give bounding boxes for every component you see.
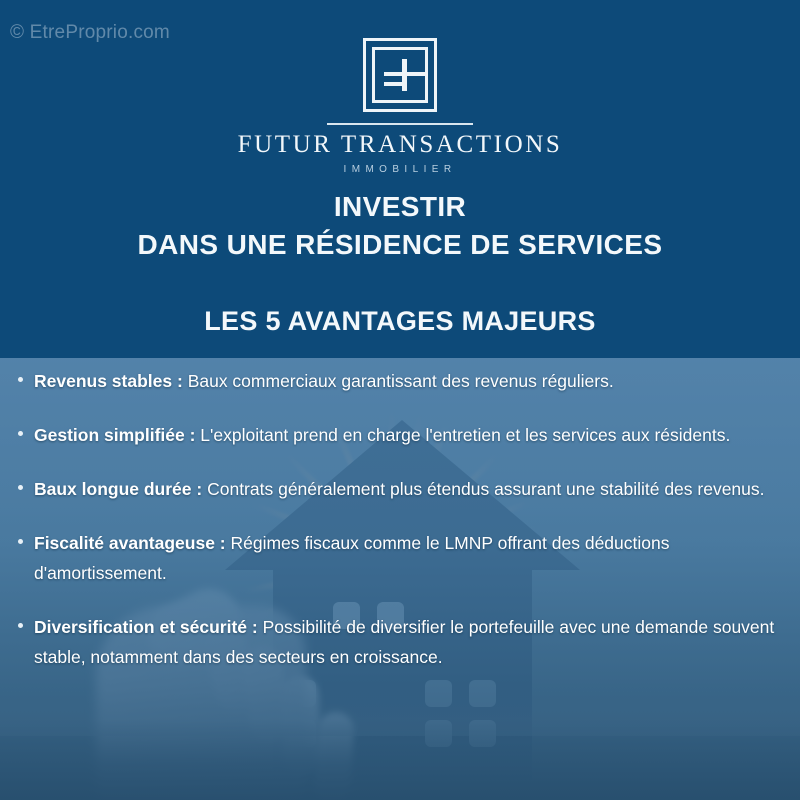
brand-tagline: IMMOBILIER — [344, 164, 457, 175]
list-item-separator: : — [185, 425, 201, 445]
list-item: Gestion simplifiée : L'exploitant prend … — [18, 420, 776, 450]
list-item-term: Baux longue durée — [34, 479, 192, 499]
list-item-term: Revenus stables — [34, 371, 172, 391]
ft-monogram-icon — [363, 38, 437, 112]
list-item-description: Contrats généralement plus étendus assur… — [207, 479, 764, 499]
poster: © EtreProprio.com FUTUR TRANSACTIONS IMM… — [0, 0, 800, 800]
monogram-stroke — [384, 72, 408, 76]
list-item: Revenus stables : Baux commerciaux garan… — [18, 366, 776, 396]
list-item-separator: : — [192, 479, 208, 499]
list-item-text: Baux longue durée : Contrats généralemen… — [34, 474, 776, 504]
list-item: Baux longue durée : Contrats généralemen… — [18, 474, 776, 504]
list-item-description: L'exploitant prend en charge l'entretien… — [200, 425, 730, 445]
list-item-separator: : — [172, 371, 188, 391]
list-item-text: Diversification et sécurité : Possibilit… — [34, 612, 776, 672]
title-line-1: INVESTIR — [0, 188, 800, 226]
list-item-text: Gestion simplifiée : L'exploitant prend … — [34, 420, 776, 450]
brand-name: FUTUR TRANSACTIONS — [238, 131, 563, 159]
list-item-text: Revenus stables : Baux commerciaux garan… — [34, 366, 776, 396]
bullet-dot-icon — [18, 539, 23, 544]
advantages-list: Revenus stables : Baux commerciaux garan… — [0, 366, 800, 696]
page-title: INVESTIR DANS UNE RÉSIDENCE DE SERVICES — [0, 188, 800, 264]
list-item-description: Baux commerciaux garantissant des revenu… — [188, 371, 614, 391]
monogram-stroke — [384, 82, 402, 86]
logo-divider — [327, 123, 473, 125]
bullet-dot-icon — [18, 623, 23, 628]
list-item: Fiscalité avantageuse : Régimes fiscaux … — [18, 528, 776, 588]
list-item-term: Fiscalité avantageuse — [34, 533, 215, 553]
list-item-term: Gestion simplifiée — [34, 425, 185, 445]
list-item-text: Fiscalité avantageuse : Régimes fiscaux … — [34, 528, 776, 588]
bullet-dot-icon — [18, 485, 23, 490]
monogram-stroke — [407, 72, 425, 76]
list-item-term: Diversification et sécurité — [34, 617, 247, 637]
brand-logo: FUTUR TRANSACTIONS IMMOBILIER — [0, 38, 800, 175]
bullet-dot-icon — [18, 431, 23, 436]
list-item-separator: : — [247, 617, 263, 637]
bullet-dot-icon — [18, 377, 23, 382]
list-item: Diversification et sécurité : Possibilit… — [18, 612, 776, 672]
page-subtitle: LES 5 AVANTAGES MAJEURS — [0, 306, 800, 337]
monogram-inner-frame — [372, 47, 428, 103]
list-item-separator: : — [215, 533, 231, 553]
title-line-2: DANS UNE RÉSIDENCE DE SERVICES — [0, 226, 800, 264]
